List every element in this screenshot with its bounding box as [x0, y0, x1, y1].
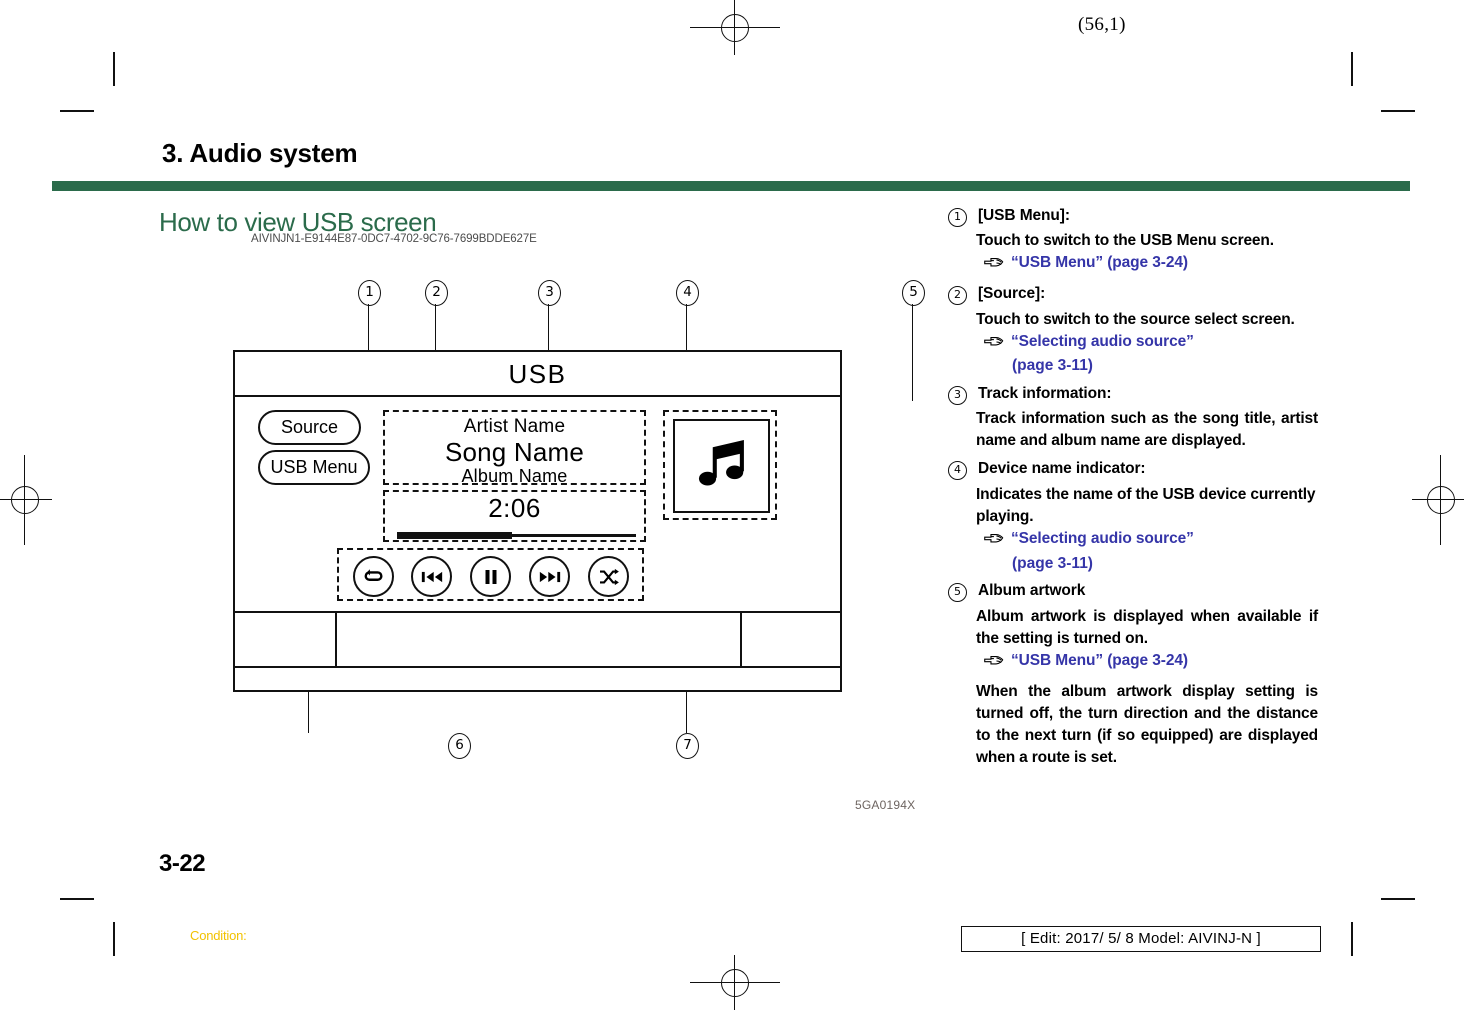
callout-number-3: 3 [948, 386, 967, 405]
callout-title-4: Device name indicator: [978, 458, 1146, 480]
callout-title-5: Album artwork [978, 580, 1085, 602]
usb-menu-button[interactable]: USB Menu [258, 450, 370, 485]
callout-item-3: 3 Track information: Track information s… [948, 383, 1318, 452]
callout-body-4: Indicates the name of the USB device cur… [976, 484, 1318, 528]
usb-screen-frame: USB Source USB Menu Artist Name Song Nam… [233, 350, 842, 692]
leader-line-5 [912, 304, 913, 401]
callout-item-1: 1 [USB Menu]: Touch to switch to the USB… [948, 205, 1318, 277]
callout-number-4: 4 [948, 461, 967, 480]
repeat-icon[interactable] [353, 556, 394, 597]
manual-page: (56,1) 3. Audio system How to view USB s… [0, 0, 1464, 1010]
callout-body-5: Album artwork is displayed when availabl… [976, 606, 1318, 650]
crop-tick-top-left-v [113, 52, 115, 86]
sheet-code: (56,1) [1078, 14, 1126, 36]
callout-description-list: 1 [USB Menu]: Touch to switch to the USB… [948, 205, 1318, 771]
cross-reference-4[interactable]: “Selecting audio source” [976, 528, 1318, 553]
playback-progress-box: 2:06 [383, 490, 646, 542]
crop-tick-bottom-right-v [1351, 922, 1353, 956]
callout-1: 1 [358, 280, 381, 306]
screen-bottom-divider [235, 611, 840, 613]
pause-icon[interactable] [470, 556, 511, 597]
usb-screen-figure: 1 2 3 4 5 6 7 USB [150, 258, 930, 838]
registration-mark-left [0, 455, 60, 545]
callout-7: 7 [676, 733, 699, 759]
tab-separator-right [740, 611, 742, 666]
screen-bottom-edge [235, 666, 840, 668]
chapter-title: 3. Audio system [162, 138, 357, 169]
cross-reference-text-1: “USB Menu” (page 3-24) [1011, 252, 1188, 274]
shuffle-icon[interactable] [588, 556, 629, 597]
callout-title-1: [USB Menu]: [978, 205, 1070, 227]
cross-reference-text-4: “Selecting audio source” [1011, 528, 1194, 550]
pointing-hand-icon [984, 653, 1006, 675]
condition-label: Condition: [190, 928, 247, 943]
callout-body-3: Track information such as the song title… [976, 408, 1318, 452]
callout-number-2: 2 [948, 286, 967, 305]
cross-reference-1[interactable]: “USB Menu” (page 3-24) [976, 252, 1318, 277]
artist-name-text: Artist Name [385, 416, 644, 438]
callout-item-4: 4 Device name indicator: Indicates the n… [948, 458, 1318, 574]
playback-time-text: 2:06 [385, 493, 644, 524]
crop-tick-bottom-left-v [113, 922, 115, 956]
section-doc-id: AIVINJN1-E9144E87-0DC7-4702-9C76-7699BDD… [251, 233, 537, 245]
cross-reference-page-2[interactable]: (page 3-11) [1012, 355, 1318, 377]
pointing-hand-icon [984, 531, 1006, 553]
album-name-text: Album Name [385, 466, 644, 487]
pointing-hand-icon [984, 255, 1006, 277]
callout-item-2: 2 [Source]: Touch to switch to the sourc… [948, 283, 1318, 377]
cross-reference-page-4[interactable]: (page 3-11) [1012, 553, 1318, 575]
source-button[interactable]: Source [258, 410, 361, 445]
callout-6: 6 [448, 733, 471, 759]
registration-mark-right [1404, 455, 1464, 545]
callout-body-5b: When the album artwork display setting i… [976, 681, 1318, 769]
album-artwork-box [663, 410, 777, 520]
callout-item-5: 5 Album artwork Album artwork is display… [948, 580, 1318, 769]
registration-mark-top [690, 0, 780, 55]
callout-number-1: 1 [948, 208, 967, 227]
cross-reference-5[interactable]: “USB Menu” (page 3-24) [976, 650, 1318, 675]
callout-number-5: 5 [948, 583, 967, 602]
cross-reference-text-2: “Selecting audio source” [1011, 331, 1194, 353]
callout-body-2: Touch to switch to the source select scr… [976, 309, 1318, 331]
tab-separator-left [335, 611, 337, 666]
song-name-text: Song Name [385, 437, 644, 468]
page-number: 3-22 [159, 850, 205, 878]
callout-2: 2 [425, 280, 448, 306]
crop-tick-bottom-right-h [1381, 898, 1415, 900]
callout-title-2: [Source]: [978, 283, 1045, 305]
cross-reference-text-5: “USB Menu” (page 3-24) [1011, 650, 1188, 672]
figure-id: 5GA0194X [855, 798, 915, 812]
registration-mark-bottom [690, 955, 780, 1010]
next-track-icon[interactable] [529, 556, 570, 597]
crop-tick-top-right-h [1381, 110, 1415, 112]
album-artwork-frame [673, 419, 770, 513]
callout-3: 3 [538, 280, 561, 306]
playback-controls-box [337, 548, 644, 601]
track-info-box: Artist Name Song Name Album Name [383, 410, 646, 485]
callout-4: 4 [676, 280, 699, 306]
crop-tick-bottom-left-h [60, 898, 94, 900]
chapter-rule [52, 181, 1410, 191]
callout-title-3: Track information: [978, 383, 1111, 405]
pointing-hand-icon [984, 334, 1006, 356]
screen-title-text: USB [509, 359, 567, 389]
callout-body-1: Touch to switch to the USB Menu screen. [976, 230, 1318, 252]
cross-reference-2[interactable]: “Selecting audio source” [976, 331, 1318, 356]
callout-5: 5 [902, 280, 925, 306]
previous-track-icon[interactable] [411, 556, 452, 597]
screen-titlebar: USB [235, 352, 840, 397]
crop-tick-top-left-h [60, 110, 94, 112]
crop-tick-top-right-v [1351, 52, 1353, 86]
music-note-icon [693, 438, 751, 494]
progress-fill [397, 532, 512, 539]
edit-stamp: [ Edit: 2017/ 5/ 8 Model: AIVINJ-N ] [961, 926, 1321, 952]
